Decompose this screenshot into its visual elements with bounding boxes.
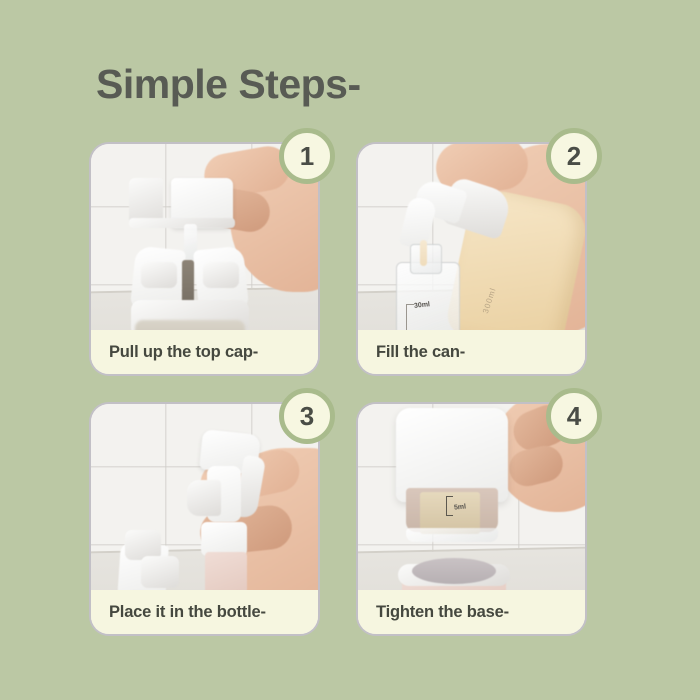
pump-collar bbox=[201, 522, 247, 556]
page-title: Simple Steps- bbox=[96, 62, 361, 107]
step-1-number: 1 bbox=[300, 143, 314, 169]
step-3-caption-text: Place it in the bottle- bbox=[109, 603, 266, 622]
step-4-caption: Tighten the base- bbox=[358, 590, 585, 634]
step-3-badge: 3 bbox=[279, 388, 335, 444]
step-4-number: 4 bbox=[567, 403, 581, 429]
step-2-caption: Fill the can- bbox=[358, 330, 585, 374]
cap-lip bbox=[129, 218, 235, 228]
cartridge-tick bbox=[446, 496, 453, 516]
step-1-caption: Pull up the top cap- bbox=[91, 330, 318, 374]
infographic-page: Simple Steps- bbox=[0, 0, 700, 700]
jar-base-opening bbox=[412, 558, 496, 584]
steps-grid: Pull up the top cap- 1 bbox=[89, 142, 611, 645]
shell-bottom-rim bbox=[406, 528, 498, 542]
step-card-1[interactable]: Pull up the top cap- 1 bbox=[89, 142, 320, 376]
step-4-caption-text: Tighten the base- bbox=[376, 603, 509, 622]
liquid-stream bbox=[420, 240, 427, 266]
step-2-badge: 2 bbox=[546, 128, 602, 184]
step-4-badge: 4 bbox=[546, 388, 602, 444]
step-3-caption: Place it in the bottle- bbox=[91, 590, 318, 634]
step-2-caption-text: Fill the can- bbox=[376, 343, 465, 362]
step-1-badge: 1 bbox=[279, 128, 335, 184]
bottle-marking-5ml: 5ml bbox=[454, 503, 467, 511]
dispenser-nub-left bbox=[141, 262, 177, 288]
dispenser-nub-right bbox=[203, 262, 239, 288]
step-card-2[interactable]: 300ml 30ml 15ml Fill the can- 2 bbox=[356, 142, 587, 376]
base-dispenser-nub-b bbox=[141, 556, 179, 588]
spray-side-tab bbox=[187, 480, 221, 516]
step-2-number: 2 bbox=[567, 143, 581, 169]
step-1-caption-text: Pull up the top cap- bbox=[109, 343, 258, 362]
step-card-4[interactable]: 5ml Tighten the base- 4 bbox=[356, 402, 587, 636]
step-3-number: 3 bbox=[300, 403, 314, 429]
step-card-3[interactable]: Place it in the bottle- 3 bbox=[89, 402, 320, 636]
